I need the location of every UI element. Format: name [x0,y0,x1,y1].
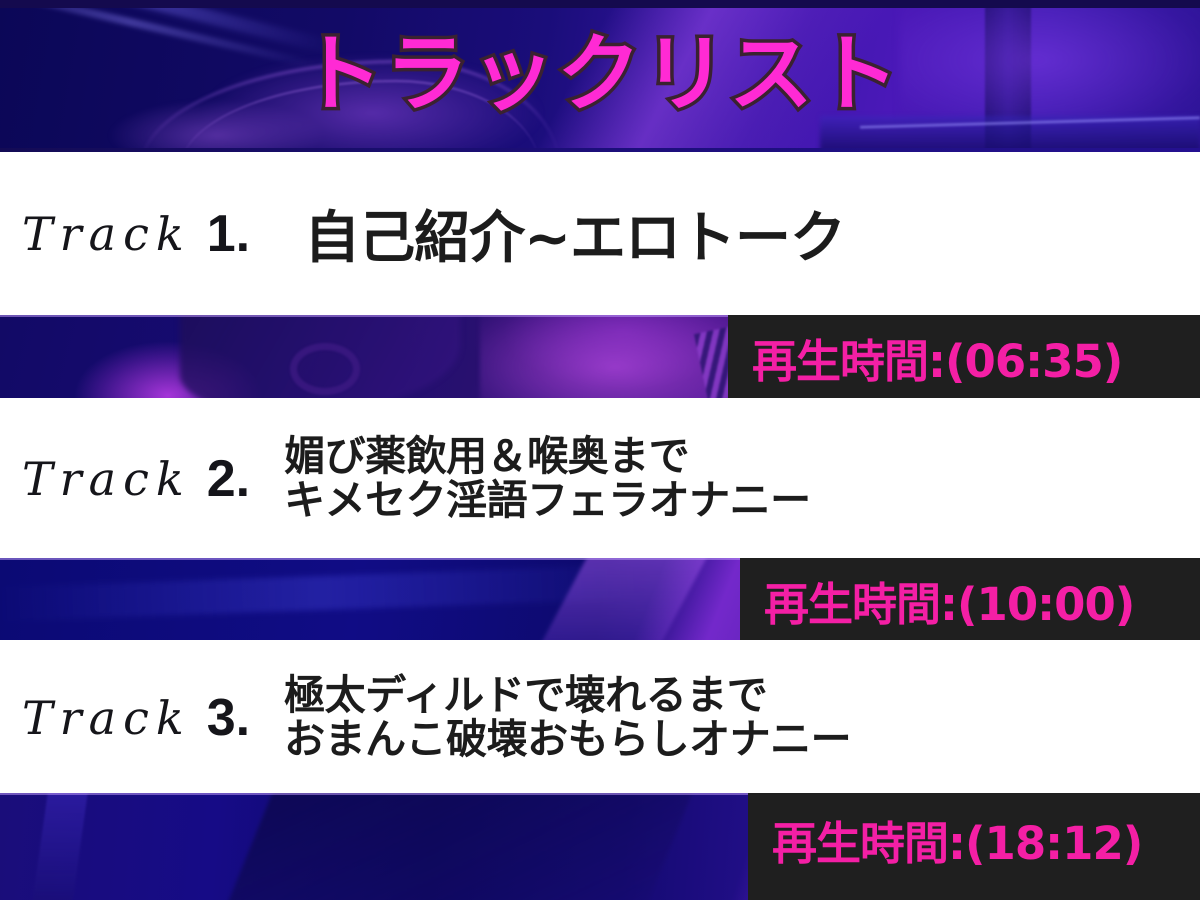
duration-text: 再生時間:(18:12) [772,807,1142,872]
track-title: 媚び薬飲用＆喉奥まで キメセク淫語フェラオナニー [284,435,811,523]
track-row: Track 3. 極太ディルドで壊れるまで おまんこ破壊おもらしオナニー [0,640,1200,795]
artwork-strip: 再生時間:(06:35) [0,315,1200,400]
track-title-line2: キメセク淫語フェラオナニー [284,479,811,523]
track-label: Track [0,207,191,261]
track-label: Track [0,691,191,745]
header-top-bar [0,0,1200,8]
page-title: トラックリスト [0,0,1200,152]
artwork-detail-wedge [224,793,697,900]
artwork-detail-ring [290,343,360,395]
artwork-detail-sheen [0,565,640,621]
track-title: 自己紹介~エロトーク [304,193,845,274]
duration-badge: 再生時間:(10:00) [740,558,1200,642]
track-row: Track 2. 媚び薬飲用＆喉奥まで キメセク淫語フェラオナニー [0,398,1200,560]
track-number: 1. [207,204,250,264]
track-title-line1: 極太ディルドで壊れるまで [284,674,851,718]
duration-text: 再生時間:(10:00) [764,568,1134,633]
track-title: 極太ディルドで壊れるまで おまんこ破壊おもらしオナニー [284,674,851,762]
duration-badge: 再生時間:(18:12) [748,793,1200,900]
track-label: Track [0,452,191,506]
artwork-strip: 再生時間:(18:12) [0,793,1200,900]
track-title-line2: おまんこ破壊おもらしオナニー [284,718,851,762]
track-number: 2. [207,449,250,509]
track-title-line1: 媚び薬飲用＆喉奥まで [284,435,811,479]
artwork-strip: 再生時間:(10:00) [0,558,1200,642]
header-banner: トラックリスト [0,0,1200,152]
duration-badge: 再生時間:(06:35) [728,315,1200,400]
track-row: Track 1. 自己紹介~エロトーク [0,152,1200,315]
duration-text: 再生時間:(06:35) [752,325,1122,390]
track-number: 3. [207,688,250,748]
artwork-detail-band [31,793,89,900]
tracklist-page: トラックリスト Track 1. 自己紹介~エロトーク 再生時間:(06:35)… [0,0,1200,900]
